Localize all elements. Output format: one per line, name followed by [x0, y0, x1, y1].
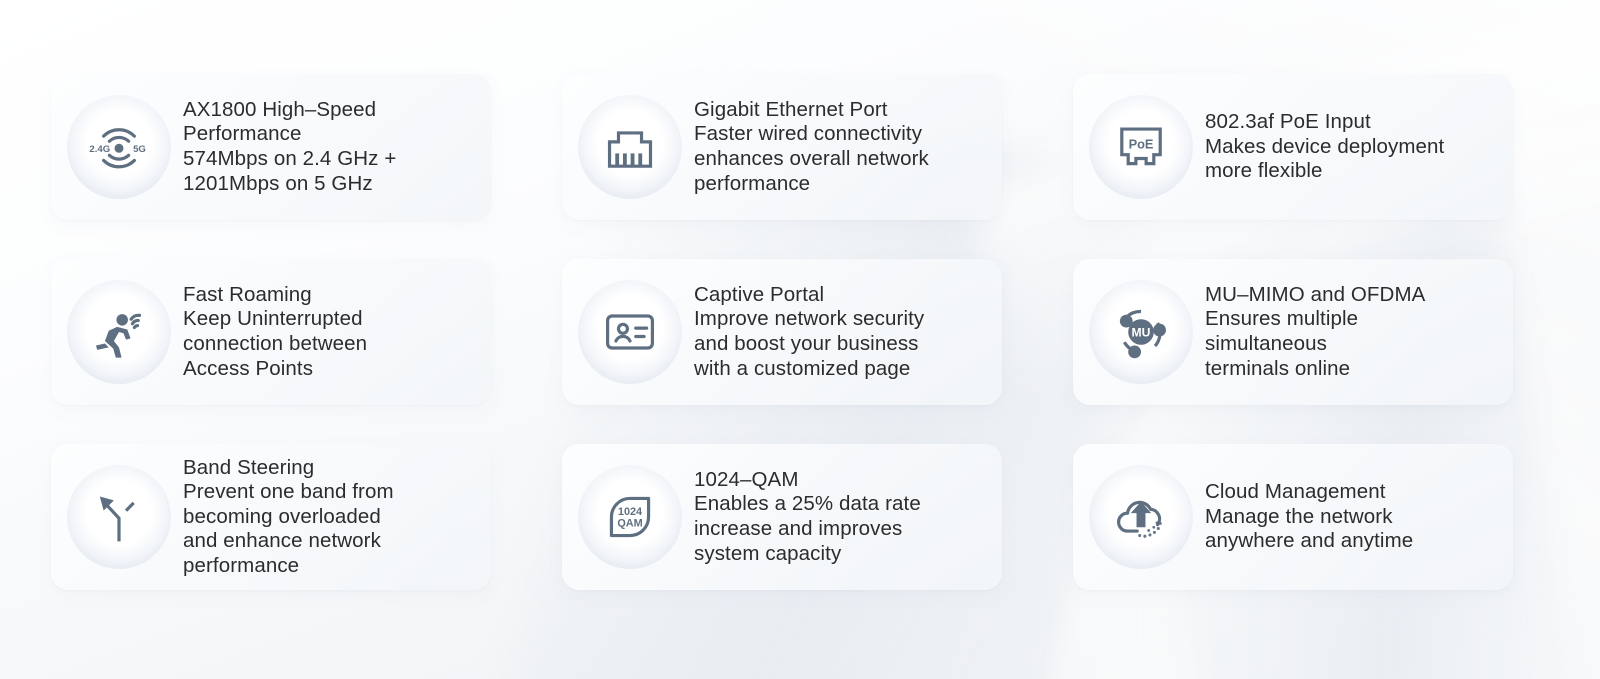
qam-badge-icon: 1024 QAM — [598, 485, 662, 549]
feature-text: AX1800 High–Speed Performance 574Mbps on… — [179, 98, 477, 196]
feature-desc-line: Ensures multiple — [1205, 307, 1499, 332]
feature-text: 1024–QAM Enables a 25% data rate increas… — [690, 468, 988, 566]
poe-label: PoE — [1129, 136, 1154, 151]
feature-desc-line: and boost your business — [694, 332, 988, 357]
feature-desc-line: Keep Uninterrupted — [183, 307, 477, 332]
feature-title: Fast Roaming — [183, 283, 477, 308]
icon-container — [67, 465, 171, 569]
feature-text: Fast Roaming Keep Uninterrupted connecti… — [179, 283, 477, 381]
feature-card-captive-portal[interactable]: Captive Portal Improve network security … — [562, 259, 1002, 405]
feature-desc-line: anywhere and anytime — [1205, 529, 1499, 554]
feature-title: AX1800 High–Speed — [183, 98, 477, 123]
wifi-5g-label: 5G — [133, 144, 146, 155]
icon-container — [578, 95, 682, 199]
feature-card-cloud-management[interactable]: Cloud Management Manage the network anyw… — [1073, 444, 1513, 590]
feature-text: Band Steering Prevent one band from beco… — [179, 456, 477, 579]
feature-text: MU–MIMO and OFDMA Ensures multiple simul… — [1201, 283, 1499, 381]
feature-desc-line: Enables a 25% data rate — [694, 492, 988, 517]
feature-text: Gigabit Ethernet Port Faster wired conne… — [690, 98, 988, 196]
feature-desc-line: Improve network security — [694, 307, 988, 332]
icon-container — [1089, 465, 1193, 569]
feature-desc-line: with a customized page — [694, 357, 988, 382]
feature-title: 802.3af PoE Input — [1205, 110, 1499, 135]
feature-desc-line: Prevent one band from — [183, 480, 477, 505]
feature-desc-line: system capacity — [694, 542, 988, 567]
feature-card-poe-input[interactable]: PoE 802.3af PoE Input Makes device deplo… — [1073, 74, 1513, 220]
feature-desc-line: Makes device deployment — [1205, 135, 1499, 160]
feature-desc-line: becoming overloaded — [183, 505, 477, 530]
feature-title: Gigabit Ethernet Port — [694, 98, 988, 123]
feature-desc-line: more flexible — [1205, 159, 1499, 184]
feature-text: Cloud Management Manage the network anyw… — [1201, 480, 1499, 554]
mu-mimo-icon: MU — [1109, 300, 1173, 364]
feature-grid: 2.4G 5G AX1800 High–Speed Performance 57… — [0, 0, 1600, 679]
ethernet-port-icon — [598, 115, 662, 179]
feature-desc-line: connection between — [183, 332, 477, 357]
feature-desc-line: simultaneous — [1205, 332, 1499, 357]
icon-container: 1024 QAM — [578, 465, 682, 569]
feature-title: MU–MIMO and OFDMA — [1205, 283, 1499, 308]
qam-top-label: 1024 — [618, 506, 642, 518]
icon-container: PoE — [1089, 95, 1193, 199]
feature-text: Captive Portal Improve network security … — [690, 283, 988, 381]
qam-bottom-label: QAM — [617, 518, 642, 530]
dual-band-wifi-icon: 2.4G 5G — [87, 115, 151, 179]
cloud-upload-icon — [1109, 485, 1173, 549]
feature-card-fast-roaming[interactable]: Fast Roaming Keep Uninterrupted connecti… — [51, 259, 491, 405]
feature-desc-line: performance — [694, 172, 988, 197]
feature-desc-line: Performance — [183, 122, 477, 147]
feature-title: Band Steering — [183, 456, 477, 481]
feature-desc-line: enhances overall network — [694, 147, 988, 172]
feature-desc-line: 574Mbps on 2.4 GHz + — [183, 147, 477, 172]
feature-desc-line: Manage the network — [1205, 505, 1499, 530]
poe-port-icon: PoE — [1109, 115, 1173, 179]
icon-container — [67, 280, 171, 384]
feature-text: 802.3af PoE Input Makes device deploymen… — [1201, 110, 1499, 184]
feature-card-ax1800-high-speed-performance[interactable]: 2.4G 5G AX1800 High–Speed Performance 57… — [51, 74, 491, 220]
mu-label: MU — [1132, 325, 1151, 339]
wifi-24g-label: 2.4G — [89, 144, 110, 155]
band-steering-fork-icon — [87, 485, 151, 549]
feature-title: Captive Portal — [694, 283, 988, 308]
icon-container: MU — [1089, 280, 1193, 384]
feature-desc-line: performance — [183, 554, 477, 579]
feature-desc-line: Faster wired connectivity — [694, 122, 988, 147]
icon-container — [578, 280, 682, 384]
fast-roaming-icon — [87, 300, 151, 364]
icon-container: 2.4G 5G — [67, 95, 171, 199]
feature-desc-line: 1201Mbps on 5 GHz — [183, 172, 477, 197]
feature-card-band-steering[interactable]: Band Steering Prevent one band from beco… — [51, 444, 491, 590]
feature-title: Cloud Management — [1205, 480, 1499, 505]
feature-card-1024-qam[interactable]: 1024 QAM 1024–QAM Enables a 25% data rat… — [562, 444, 1002, 590]
feature-desc-line: terminals online — [1205, 357, 1499, 382]
feature-card-mu-mimo-ofdma[interactable]: MU MU–MIMO and OFDMA Ensures multiple si… — [1073, 259, 1513, 405]
feature-desc-line: Access Points — [183, 357, 477, 382]
feature-desc-line: and enhance network — [183, 529, 477, 554]
id-card-icon — [598, 300, 662, 364]
feature-desc-line: increase and improves — [694, 517, 988, 542]
feature-title: 1024–QAM — [694, 468, 988, 493]
feature-card-gigabit-ethernet-port[interactable]: Gigabit Ethernet Port Faster wired conne… — [562, 74, 1002, 220]
